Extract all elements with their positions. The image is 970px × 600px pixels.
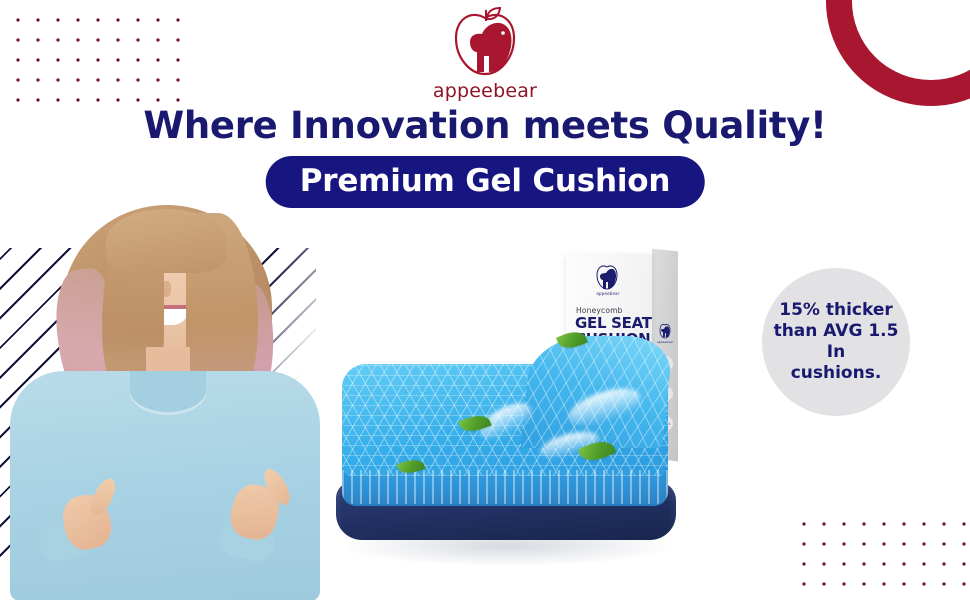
box-brand-word: appeebear [586,291,630,296]
thickness-fact-badge: 15% thicker than AVG 1.5 In cushions. [762,268,910,416]
fact-line-3: cushions. [791,363,882,383]
brand-wordmark: appeebear [433,80,537,102]
gel-cushion-product [330,330,690,580]
model-photo [10,195,320,600]
product-name-badge: Premium Gel Cushion [266,156,705,208]
dot-pattern-bottom-right [790,510,970,600]
cushion-side-ribs [342,470,668,504]
fact-line-1: 15% thicker [779,300,893,320]
apple-bear-logo-icon [442,6,528,78]
thickness-fact-text: 15% thicker than AVG 1.5 In cushions. [772,300,900,384]
product-banner: appeebear Where Innovation meets Quality… [0,0,970,600]
cushion-raised-back [520,336,674,448]
box-logo-icon [594,262,620,292]
fact-line-2: than AVG 1.5 In [774,321,899,362]
brand-logo: appeebear [0,6,970,102]
page-title: Where Innovation meets Quality! [0,104,970,147]
